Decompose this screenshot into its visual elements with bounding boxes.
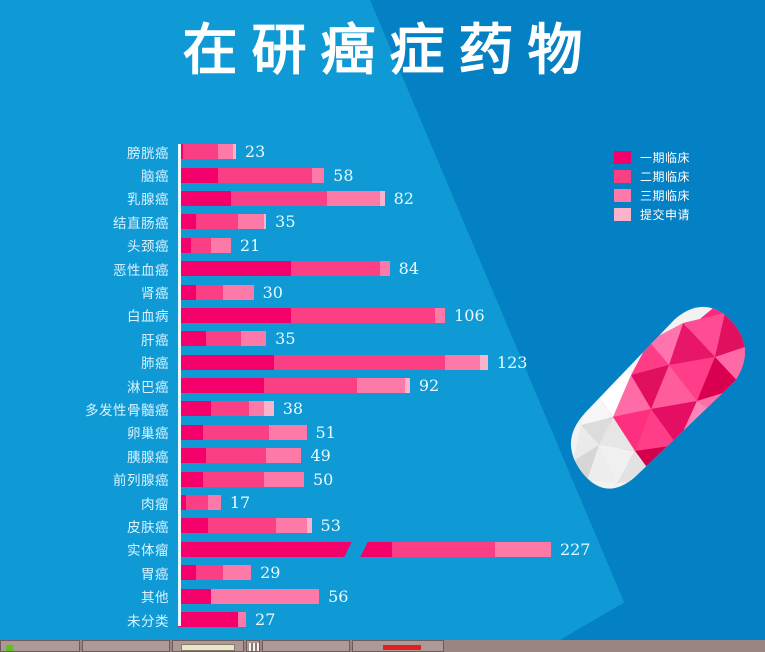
app-indicator-icon	[6, 645, 13, 652]
bar-wrapper: 35	[178, 327, 765, 350]
bar-value-label: 82	[394, 189, 414, 208]
category-label: 肾癌	[0, 282, 178, 302]
bar-wrapper: 84	[178, 257, 765, 280]
bar-wrapper: 50	[178, 467, 765, 490]
bar-wrapper: 51	[178, 421, 765, 444]
bar-segment-4	[264, 214, 267, 229]
bar-wrapper: 92	[178, 374, 765, 397]
legend-label-phase1: 一期临床	[640, 149, 690, 166]
bar-wrapper: 53	[178, 514, 765, 537]
bar-segment-3	[223, 565, 251, 580]
bar-segment-3	[241, 331, 266, 346]
page-title: 在研癌症药物	[0, 14, 765, 86]
category-label: 肉瘤	[0, 493, 178, 513]
bar-value-label: 17	[230, 493, 250, 512]
bar-segment-1	[178, 565, 196, 580]
category-label: 恶性血癌	[0, 259, 178, 279]
stacked-bar[interactable]	[178, 518, 312, 533]
chart-row: 肺癌123	[0, 351, 765, 374]
bar-segment-3	[208, 495, 221, 510]
bar-segment-3	[264, 472, 304, 487]
stacked-bar[interactable]	[178, 168, 324, 183]
legend-label-submitted: 提交申请	[640, 206, 690, 223]
legend-swatch-phase1	[614, 151, 631, 164]
bar-value-label: 49	[310, 446, 330, 465]
bar-segment-2	[274, 355, 445, 370]
legend-swatch-phase2	[614, 170, 631, 183]
category-label: 头颈癌	[0, 235, 178, 255]
category-label: 肺癌	[0, 352, 178, 372]
chart-row: 胰腺癌49	[0, 444, 765, 467]
category-label: 多发性骨髓癌	[0, 399, 178, 419]
stacked-bar[interactable]	[178, 472, 304, 487]
chart-row: 淋巴癌92	[0, 374, 765, 397]
bar-segment-3	[249, 401, 264, 416]
category-label: 前列腺癌	[0, 469, 178, 489]
bar-value-label: 27	[255, 610, 275, 629]
category-label: 卵巢癌	[0, 422, 178, 442]
stacked-bar[interactable]	[178, 144, 236, 159]
legend-label-phase3: 三期临床	[640, 187, 690, 204]
bar-segment-2	[206, 331, 241, 346]
bar-segment-2	[183, 144, 218, 159]
bar-segment-3	[238, 612, 246, 627]
bar-segment-1	[178, 355, 274, 370]
chart-row: 多发性骨髓癌38	[0, 397, 765, 420]
category-label: 皮肤癌	[0, 516, 178, 536]
bar-wrapper: 17	[178, 491, 765, 514]
bar-wrapper: 38	[178, 397, 765, 420]
legend: 一期临床 二期临床 三期临床 提交申请	[614, 148, 690, 224]
bar-segment-3	[211, 238, 231, 253]
bar-segment-2	[264, 378, 357, 393]
chart-row: 恶性血癌84	[0, 257, 765, 280]
legend-item: 一期临床	[614, 148, 690, 167]
bar-segment-2	[206, 448, 266, 463]
bar-segment-1	[178, 308, 291, 323]
taskbar-button[interactable]	[0, 640, 80, 652]
stacked-bar[interactable]	[178, 542, 551, 557]
stacked-bar[interactable]	[178, 401, 274, 416]
category-label: 肝癌	[0, 329, 178, 349]
legend-label-phase2: 二期临床	[640, 168, 690, 185]
bar-segment-1	[178, 589, 211, 604]
category-label: 膀胱癌	[0, 142, 178, 162]
stacked-bar[interactable]	[178, 214, 266, 229]
bar-segment-2	[186, 495, 209, 510]
category-label: 乳腺癌	[0, 188, 178, 208]
stacked-bar[interactable]	[178, 378, 410, 393]
poster-canvas: 在研癌症药物	[0, 0, 765, 640]
bar-value-label: 53	[321, 516, 341, 535]
stacked-bar[interactable]	[178, 495, 221, 510]
bar-segment-4	[405, 378, 410, 393]
bar-segment-2	[208, 518, 276, 533]
category-label: 实体瘤	[0, 539, 178, 559]
bar-segment-1	[178, 378, 264, 393]
bar-segment-1	[178, 448, 206, 463]
bar-segment-2	[392, 542, 496, 557]
bar-wrapper: 106	[178, 304, 765, 327]
category-label: 其他	[0, 586, 178, 606]
bar-segment-3	[238, 214, 263, 229]
legend-item: 二期临床	[614, 167, 690, 186]
bar-segment-2	[291, 308, 435, 323]
taskbar-button[interactable]	[82, 640, 170, 652]
bar-segment-2	[203, 425, 269, 440]
bar-segment-1	[178, 401, 211, 416]
bar-wrapper: 29	[178, 561, 765, 584]
chart-row: 卵巢癌51	[0, 421, 765, 444]
stacked-bar[interactable]	[178, 425, 307, 440]
chart-row: 肉瘤17	[0, 491, 765, 514]
bar-value-label: 23	[245, 142, 265, 161]
bar-segment-2	[203, 472, 263, 487]
legend-item: 提交申请	[614, 205, 690, 224]
bar-segment-4	[307, 518, 312, 533]
bar-value-label: 56	[328, 587, 348, 606]
taskbar[interactable]	[0, 640, 765, 652]
chart-row: 前列腺癌50	[0, 467, 765, 490]
bar-segment-1	[178, 612, 238, 627]
taskbar-button[interactable]	[262, 640, 350, 652]
bar-segment-3	[495, 542, 551, 557]
stacked-bar[interactable]	[178, 238, 231, 253]
stacked-bar[interactable]	[178, 448, 301, 463]
bar-segment-1	[178, 331, 206, 346]
record-icon	[383, 645, 421, 650]
chart-row: 白血病106	[0, 304, 765, 327]
bar-segment-1	[178, 261, 291, 276]
bar-segment-1	[178, 214, 196, 229]
bar-value-label: 50	[313, 470, 333, 489]
category-label: 未分类	[0, 610, 178, 630]
bar-wrapper: 21	[178, 234, 765, 257]
legend-swatch-phase3	[614, 189, 631, 202]
bar-segment-1	[178, 425, 203, 440]
bar-value-label: 58	[333, 166, 353, 185]
bar-segment-3	[211, 589, 319, 604]
bar-value-label: 92	[419, 376, 439, 395]
bar-segment-3	[445, 355, 480, 370]
bar-segment-2	[196, 285, 224, 300]
bar-segment-4	[480, 355, 488, 370]
chart-row: 其他56	[0, 584, 765, 607]
menu-bars-icon	[249, 643, 260, 652]
bar-segment-1	[178, 168, 218, 183]
bar-segment-1	[178, 191, 231, 206]
bar-value-label: 38	[283, 399, 303, 418]
bar-value-label: 30	[263, 283, 283, 302]
bar-segment-2	[218, 168, 311, 183]
bar-segment-2	[211, 401, 249, 416]
bar-segment-3	[435, 308, 445, 323]
stacked-bar[interactable]	[178, 589, 319, 604]
bar-value-label: 106	[454, 306, 485, 325]
bar-segment-2	[196, 565, 224, 580]
bar-segment-1	[178, 285, 196, 300]
category-label: 胃癌	[0, 563, 178, 583]
bar-wrapper: 30	[178, 280, 765, 303]
bar-value-label: 35	[275, 212, 295, 231]
bar-value-label: 123	[497, 353, 528, 372]
category-axis-line	[178, 144, 181, 626]
bar-segment-3	[218, 144, 233, 159]
bar-segment-3	[312, 168, 325, 183]
bar-value-label: 35	[275, 329, 295, 348]
taskbar-button[interactable]	[246, 640, 260, 652]
bar-segment-3	[276, 518, 306, 533]
bar-value-label: 21	[240, 236, 260, 255]
bar-segment-3	[269, 425, 307, 440]
category-label: 胰腺癌	[0, 446, 178, 466]
taskbar-button[interactable]	[352, 640, 444, 652]
chart-row: 头颈癌21	[0, 234, 765, 257]
bar-value-label: 84	[399, 259, 419, 278]
bar-segment-2	[191, 238, 211, 253]
bar-wrapper: 49	[178, 444, 765, 467]
bar-segment-4	[380, 191, 385, 206]
bar-value-label: 51	[316, 423, 336, 442]
bar-segment-3	[380, 261, 390, 276]
stacked-bar[interactable]	[178, 612, 246, 627]
bar-wrapper: 27	[178, 608, 765, 631]
bar-segment-4	[233, 144, 236, 159]
stacked-bar[interactable]	[178, 331, 266, 346]
bar-segment-3	[357, 378, 405, 393]
legend-item: 三期临床	[614, 186, 690, 205]
bar-segment-2	[196, 214, 239, 229]
taskbar-button[interactable]	[172, 640, 244, 652]
bar-wrapper: 227	[178, 538, 765, 561]
bar-wrapper: 123	[178, 351, 765, 374]
legend-swatch-submitted	[614, 208, 631, 221]
bar-value-label: 29	[260, 563, 280, 582]
stacked-bar[interactable]	[178, 261, 390, 276]
category-label: 淋巴癌	[0, 376, 178, 396]
bar-segment-2	[231, 191, 327, 206]
category-label: 白血病	[0, 305, 178, 325]
chart-row: 实体瘤227	[0, 538, 765, 561]
bar-segment-1	[178, 518, 208, 533]
bar-segment-4	[264, 401, 274, 416]
chart-row: 皮肤癌53	[0, 514, 765, 537]
bar-segment-2	[291, 261, 379, 276]
bar-segment-1	[178, 472, 203, 487]
chart-row: 肝癌35	[0, 327, 765, 350]
stacked-bar[interactable]	[178, 285, 254, 300]
category-label: 脑癌	[0, 165, 178, 185]
category-label: 结直肠癌	[0, 212, 178, 232]
chart-row: 肾癌30	[0, 280, 765, 303]
document-icon	[181, 644, 235, 651]
bar-segment-3	[266, 448, 301, 463]
bar-wrapper: 56	[178, 584, 765, 607]
stacked-bar[interactable]	[178, 355, 488, 370]
bar-value-label: 227	[560, 540, 591, 559]
stacked-bar[interactable]	[178, 308, 445, 323]
stacked-bar[interactable]	[178, 191, 385, 206]
stacked-bar[interactable]	[178, 565, 251, 580]
bar-segment-3	[223, 285, 253, 300]
chart-row: 胃癌29	[0, 561, 765, 584]
chart-row: 未分类27	[0, 608, 765, 631]
bar-segment-3	[327, 191, 380, 206]
